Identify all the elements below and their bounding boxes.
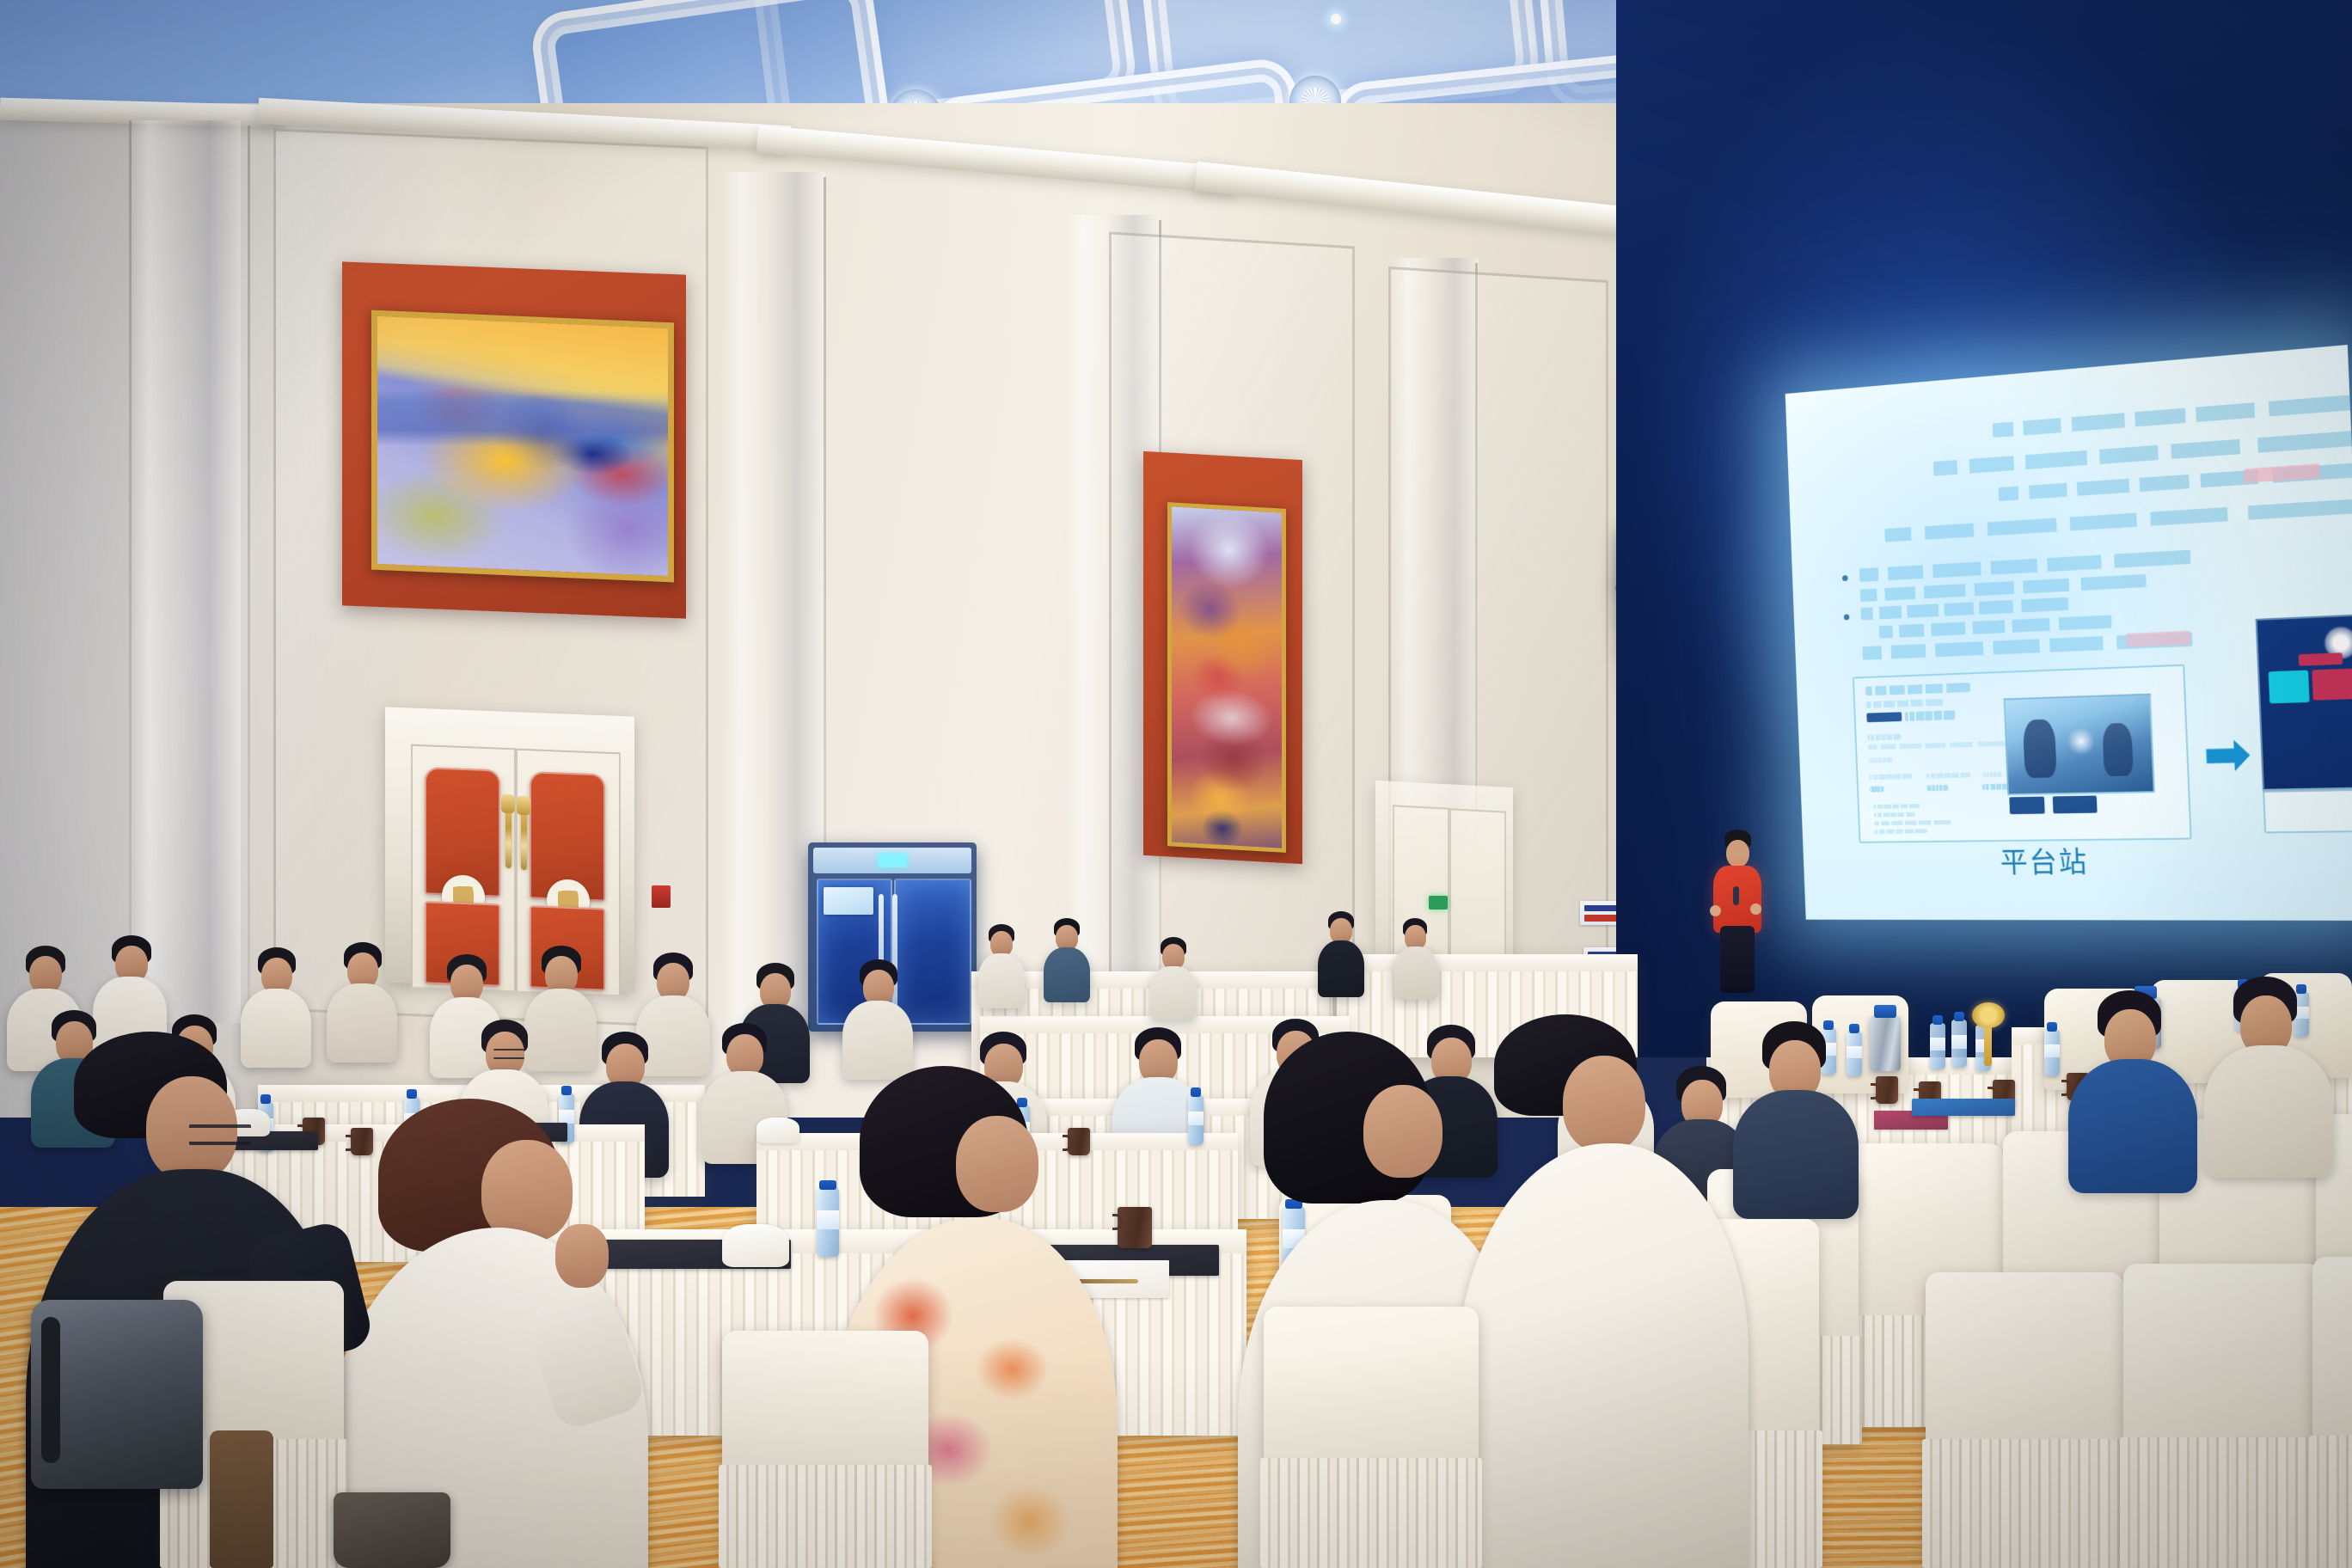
slide-text-block: [1981, 772, 2001, 777]
refrigerator-label: [824, 887, 873, 915]
arrow-right-icon: ➡: [2203, 727, 2251, 783]
attendee-hand: [555, 1224, 609, 1288]
water-bottle[interactable]: [1930, 1023, 1945, 1069]
fire-alarm-box[interactable]: [652, 885, 671, 908]
slide-text-block: [1873, 804, 1920, 809]
slide-meeting-photo: [2004, 694, 2155, 796]
attendee-torso: [1393, 946, 1438, 1000]
presenter-hand-right: [1750, 903, 1761, 915]
chair-skirt: [2120, 1437, 2324, 1568]
presenter-hand-left: [1710, 905, 1721, 916]
attendee-head: [956, 1116, 1038, 1212]
presenter-trousers: [1720, 926, 1755, 993]
wall-groove: [129, 120, 132, 1023]
door-handle-left[interactable]: [505, 806, 511, 868]
tea-cup[interactable]: [1118, 1207, 1152, 1248]
slide-app-tile: [2312, 668, 2352, 701]
slide-text-block: [1905, 710, 1956, 721]
slide-action-button: [2053, 795, 2098, 813]
water-bottle[interactable]: [817, 1188, 839, 1257]
attendee-torso: [636, 995, 710, 1076]
slide-text-block: [1879, 615, 2112, 638]
attendee-torso: [1318, 940, 1364, 997]
table-number-stand: [1984, 1025, 1992, 1066]
attendee-torso: [978, 953, 1025, 1008]
slide-action-button: [1866, 712, 1902, 722]
chair-skirt: [1922, 1439, 2127, 1568]
painting-canvas: [377, 316, 668, 576]
slide-text-block: [1926, 773, 1970, 779]
attendee-torso: [2068, 1059, 2197, 1193]
exit-sign: [1429, 896, 1448, 910]
banquet-chair[interactable]: [2123, 1264, 2321, 1568]
slide-text-block: [1868, 757, 1892, 763]
door-knob-left[interactable]: [501, 794, 515, 814]
slide-webpage-card: [1853, 665, 2192, 843]
water-bottle[interactable]: [1188, 1095, 1204, 1145]
table-top: [1337, 954, 1638, 971]
thermos-flask[interactable]: [1870, 1016, 1901, 1071]
conference-hall-photo: ➡ 平台站: [0, 0, 2352, 1568]
attendee-torso: [241, 989, 311, 1068]
door-knob-right[interactable]: [517, 796, 530, 816]
tea-cup[interactable]: [1068, 1128, 1090, 1155]
handheld-microphone: [1733, 886, 1739, 905]
refrigerator-display: [878, 854, 907, 867]
slide-caption: 平台站: [2000, 839, 2089, 881]
eyeglasses: [189, 1124, 251, 1145]
slide-text-block: [1874, 829, 1927, 834]
water-bottle[interactable]: [1951, 1020, 1967, 1068]
slide-text-block: [1866, 699, 1944, 708]
folded-napkin: [756, 1118, 799, 1143]
abstract-landscape-painting: [371, 310, 674, 583]
tea-cup[interactable]: [1876, 1076, 1898, 1104]
slide-text-block: [1874, 820, 1951, 825]
attendee-torso: [842, 1001, 913, 1080]
slide-text-block: [1868, 741, 2011, 750]
slide-text-block: [1884, 499, 2352, 542]
slide-text-block: [1993, 395, 2352, 438]
water-bottle[interactable]: [2044, 1030, 2060, 1076]
backpack-strap: [41, 1317, 60, 1463]
eyeglasses: [493, 1049, 524, 1059]
presenter-head: [1726, 840, 1749, 867]
attendee-torso: [524, 989, 597, 1071]
slide-app-badge: [2299, 652, 2343, 666]
door-handle-right[interactable]: [521, 808, 527, 870]
slide-text-block: [1927, 785, 1949, 791]
slide-highlight-block: [2126, 631, 2190, 647]
attendee-torso: [2204, 1045, 2333, 1178]
attendee-torso: [1044, 947, 1090, 1002]
slide-text-block: [1867, 734, 1901, 741]
chair-skirt: [1260, 1458, 1482, 1568]
attendee-torso: [1150, 966, 1197, 1020]
water-bottle[interactable]: [1847, 1032, 1862, 1076]
refrigerator-door-right[interactable]: [894, 879, 971, 1025]
slide-bullet-marker: [1842, 575, 1848, 581]
handbag[interactable]: [334, 1492, 450, 1568]
slide-mobile-app-mock: [2256, 614, 2352, 793]
banquet-chair[interactable]: [1264, 1307, 1479, 1568]
painting-canvas: [1172, 506, 1282, 848]
attendee-head: [1363, 1085, 1442, 1178]
tea-cup[interactable]: [351, 1128, 373, 1155]
slide-text-block: [1874, 812, 1915, 818]
slide-text-block: [1869, 774, 1912, 780]
banquet-chair[interactable]: [2312, 1257, 2352, 1568]
folded-napkin: [722, 1224, 789, 1267]
wall-pilaster: [129, 120, 241, 1023]
banquet-chair[interactable]: [1926, 1272, 2123, 1568]
slide-app-tile: [2269, 671, 2310, 704]
placemat[interactable]: [1912, 1099, 2015, 1116]
abstract-vertical-painting: [1167, 502, 1286, 853]
attendee-torso: [1733, 1090, 1859, 1219]
ceiling-downlight: [1331, 14, 1341, 24]
attendee-head: [481, 1140, 573, 1241]
attendee-torso: [327, 983, 397, 1063]
wooden-chair-back[interactable]: [210, 1430, 273, 1568]
chair-skirt: [2309, 1436, 2352, 1568]
wall-groove: [248, 126, 250, 1020]
chair-skirt: [719, 1465, 932, 1568]
banquet-chair[interactable]: [722, 1331, 928, 1568]
attendee-head: [1563, 1056, 1645, 1152]
slide-action-button: [2009, 797, 2045, 815]
slide-caption-card: [2263, 787, 2352, 833]
slide-text-block: [1865, 683, 1970, 695]
slide-bullet-marker: [1844, 614, 1850, 620]
projection-screen: ➡ 平台站: [1785, 345, 2352, 921]
slide-text-block: [1861, 597, 2069, 621]
slide-text-block: [1870, 786, 1884, 792]
